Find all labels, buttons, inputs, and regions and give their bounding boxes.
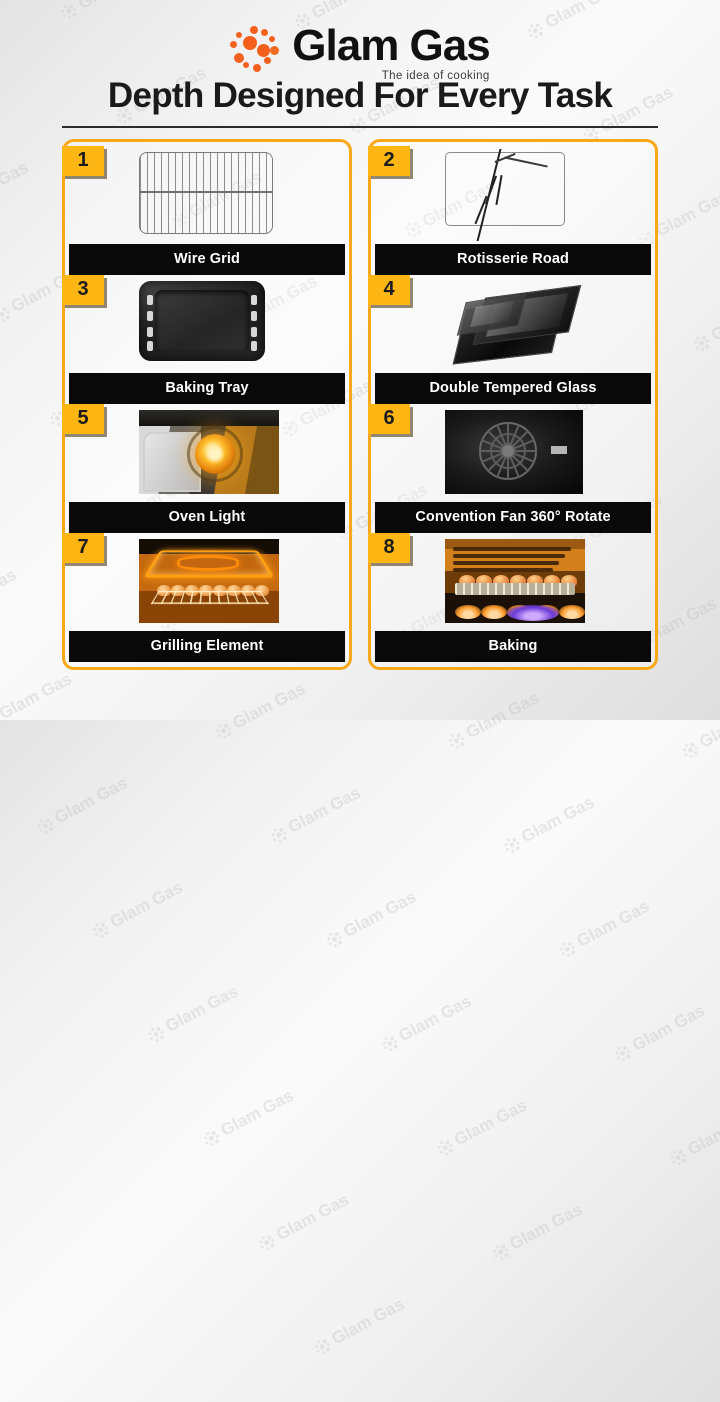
watermark-text: Glam Gas [574, 897, 653, 952]
watermark-item: Glam Gas [644, 1014, 720, 1213]
feature-card[interactable]: 6Convention Fan 360° Rotate [375, 404, 651, 533]
watermark-text: Glam Gas [285, 783, 364, 838]
feature-card[interactable]: 1Wire Grid [69, 146, 345, 275]
watermark-logo-icon [146, 1024, 166, 1044]
feature-number-badge: 5 [62, 404, 104, 434]
watermark-item: Glam Gas [300, 796, 533, 995]
watermark-text: Glam Gas [328, 1294, 407, 1349]
watermark-text: Glam Gas [273, 1190, 352, 1245]
watermark-text: Glam Gas [51, 773, 130, 828]
oven-light-illustration [139, 410, 275, 496]
glam-gas-dot-swirl-icon [230, 26, 286, 76]
grilling-element-illustration [139, 539, 275, 625]
watermark-item: Glam Gas [177, 995, 410, 1194]
page-title: Depth Designed For Every Task [62, 78, 658, 115]
feature-label: Wire Grid [69, 244, 345, 275]
watermark-logo-icon [680, 740, 700, 760]
feature-number-badge: 1 [62, 146, 104, 176]
watermark-logo-icon [213, 721, 233, 741]
watermark-text: Glam Gas [629, 1001, 708, 1056]
watermark-item: Glam Gas [478, 701, 711, 900]
watermark-text: Glam Gas [340, 887, 419, 942]
watermark-item: Glam Gas [66, 786, 299, 985]
watermark-logo-icon [90, 919, 110, 939]
watermark-logo-icon [268, 825, 288, 845]
watermark-logo-icon [312, 1336, 332, 1356]
feature-thumbnail [375, 278, 651, 370]
watermark-text: Glam Gas [684, 1105, 720, 1160]
watermark-item: Glam Gas [711, 711, 720, 910]
watermark-logo-icon [613, 1043, 633, 1063]
watermark-logo-icon [490, 1241, 510, 1261]
page-heading: Depth Designed For Every Task [62, 78, 658, 115]
watermark-item: Glam Gas [122, 890, 355, 1089]
watermark-text: Glam Gas [518, 792, 597, 847]
brand-header: Glam Gas The idea of cooking [62, 0, 658, 72]
feature-number-badge: 3 [62, 275, 104, 305]
poster-page: Glam Gas The idea of cooking Depth Desig… [0, 0, 720, 720]
brand-logo: Glam Gas The idea of cooking [230, 24, 489, 82]
feature-thumbnail [375, 149, 651, 241]
feature-card[interactable]: 3Baking Tray [69, 275, 345, 404]
feature-label: Baking [375, 631, 651, 662]
watermark-logo-icon [435, 1137, 455, 1157]
feature-number-badge: 6 [368, 404, 410, 434]
watermark-logo-icon [668, 1147, 688, 1167]
feature-thumbnail [69, 149, 345, 241]
wire-grid-illustration [139, 152, 275, 238]
feature-label: Rotisserie Road [375, 244, 651, 275]
watermark-logo-icon [379, 1033, 399, 1053]
feature-thumbnail [69, 407, 345, 499]
feature-thumbnail [375, 407, 651, 499]
title-divider [62, 126, 658, 128]
watermark-text: Glam Gas [396, 991, 475, 1046]
watermark-logo-icon [324, 929, 344, 949]
feature-thumbnail [69, 278, 345, 370]
watermark-item: Glam Gas [466, 1108, 699, 1307]
watermark-logo-icon [201, 1128, 221, 1148]
feature-label: Baking Tray [69, 373, 345, 404]
watermark-item: Glam Gas [232, 1099, 465, 1298]
watermark-text: Glam Gas [218, 1086, 297, 1141]
feature-label: Grilling Element [69, 631, 345, 662]
watermark-item: Glam Gas [588, 910, 720, 1109]
rotisserie-rod-illustration [445, 152, 581, 238]
watermark-text: Glam Gas [162, 982, 241, 1037]
watermark-logo-icon [502, 834, 522, 854]
baking-tray-illustration [139, 281, 275, 367]
feature-label: Convention Fan 360° Rotate [375, 502, 651, 533]
watermark-item: Glam Gas [410, 1004, 643, 1203]
baking-illustration [445, 539, 581, 625]
watermark-text: Glam Gas [107, 878, 186, 933]
brand-name: Glam Gas [292, 24, 489, 67]
feature-number-badge: 2 [368, 146, 410, 176]
feature-card[interactable]: 2Rotisserie Road [375, 146, 651, 275]
convection-fan-illustration [445, 410, 581, 496]
feature-label: Double Tempered Glass [375, 373, 651, 404]
tempered-glass-illustration [445, 281, 581, 367]
feature-number-badge: 8 [368, 533, 410, 563]
feature-number-badge: 7 [62, 533, 104, 563]
feature-column-left: 1Wire Grid3Baking Tray5Oven Light7Grilli… [62, 139, 352, 670]
feature-card[interactable]: 8Baking [375, 533, 651, 662]
watermark-logo-icon [257, 1232, 277, 1252]
feature-card[interactable]: 5Oven Light [69, 404, 345, 533]
feature-thumbnail [375, 536, 651, 628]
feature-column-right: 2Rotisserie Road4Double Tempered Glass6C… [368, 139, 658, 670]
watermark-logo-icon [35, 815, 55, 835]
feature-card[interactable]: 7Grilling Element [69, 533, 345, 662]
watermark-item: Glam Gas [533, 805, 720, 1004]
watermark-logo-icon [557, 938, 577, 958]
watermark-item: Glam Gas [244, 692, 477, 891]
feature-label: Oven Light [69, 502, 345, 533]
feature-card[interactable]: 4Double Tempered Glass [375, 275, 651, 404]
feature-thumbnail [69, 536, 345, 628]
watermark-item: Glam Gas [288, 1203, 521, 1402]
watermark-text: Glam Gas [451, 1095, 530, 1150]
feature-number-badge: 4 [368, 275, 410, 305]
watermark-logo-icon [446, 730, 466, 750]
feature-grid: 1Wire Grid3Baking Tray5Oven Light7Grilli… [62, 139, 658, 670]
watermark-text: Glam Gas [506, 1200, 585, 1255]
watermark-item: Glam Gas [355, 900, 588, 1099]
